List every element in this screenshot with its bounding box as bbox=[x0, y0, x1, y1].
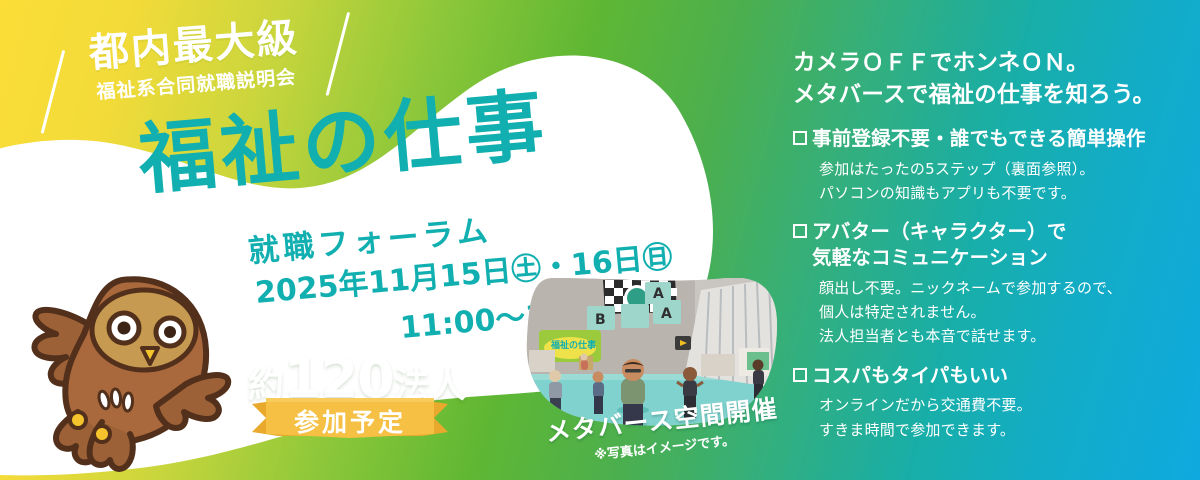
right-panel: カメラＯＦＦでホンネＯＮ。 メタバースで福祉の仕事を知ろう。 事前登録不要・誰で… bbox=[793, 48, 1185, 442]
avatar-mid bbox=[593, 372, 605, 415]
feature-1-head: 事前登録不要・誰でもできる簡単操作 bbox=[793, 126, 1185, 152]
feature-2-body: 顔出し不要。ニックネームで参加するので、 個人は特定されません。 法人担当者とも… bbox=[819, 276, 1185, 349]
checkbox-icon bbox=[793, 131, 807, 145]
feature-3-body-line-2: すきま時間で参加できます。 bbox=[819, 418, 1185, 442]
feature-1-body: 参加はたったの5ステップ（裏面参照）。 パソコンの知識もアプリも不要です。 bbox=[819, 157, 1185, 206]
feature-2-head-line-1: アバター（キャラクター）で bbox=[812, 219, 1067, 245]
feature-1-head-line-1: 事前登録不要・誰でもできる簡単操作 bbox=[812, 126, 1146, 152]
feature-block-1: 事前登録不要・誰でもできる簡単操作 参加はたったの5ステップ（裏面参照）。 パソ… bbox=[793, 126, 1185, 205]
feature-1-body-line-1: 参加はたったの5ステップ（裏面参照）。 bbox=[819, 157, 1185, 181]
feature-2-body-line-1: 顔出し不要。ニックネームで参加するので、 bbox=[819, 276, 1185, 300]
checkbox-icon bbox=[793, 368, 807, 382]
feature-3-head-line-1: コスパもタイパもいい bbox=[812, 363, 1008, 389]
feature-2-body-line-3: 法人担当者とも本音で話せます。 bbox=[819, 324, 1185, 348]
ribbon-label: 参加予定 bbox=[252, 403, 448, 439]
feature-2-head: アバター（キャラクター）で 気軽なコミュニケーション bbox=[793, 219, 1185, 270]
feature-2-head-line-2: 気軽なコミュニケーション bbox=[812, 245, 1067, 271]
feature-1-body-line-2: パソコンの知識もアプリも不要です。 bbox=[819, 181, 1185, 205]
svg-text:福祉の仕事: 福祉の仕事 bbox=[550, 339, 596, 351]
badge-headline: 都内最大級 bbox=[75, 17, 312, 75]
feature-2-body-line-2: 個人は特定されません。 bbox=[819, 300, 1185, 324]
avatar-small bbox=[581, 354, 589, 371]
booth-label-b: B bbox=[595, 312, 606, 328]
avatar-left bbox=[549, 370, 562, 418]
checkbox-icon bbox=[793, 224, 807, 238]
feature-block-3: コスパもタイパもいい オンラインだから交通費不要。 すきま時間で参加できます。 bbox=[793, 363, 1185, 442]
owl-mascot-icon bbox=[18, 262, 233, 477]
booth-label-a1: A bbox=[661, 306, 672, 322]
feature-block-2: アバター（キャラクター）で 気軽なコミュニケーション 顔出し不要。ニックネームで… bbox=[793, 219, 1185, 348]
booth-label-a2: A bbox=[653, 286, 664, 302]
lead-line-1: カメラＯＦＦでホンネＯＮ。 bbox=[793, 48, 1185, 80]
participation-ribbon: 参加予定 bbox=[252, 394, 448, 448]
feature-3-body: オンラインだから交通費不要。 すきま時間で参加できます。 bbox=[819, 393, 1185, 442]
feature-3-body-line-1: オンラインだから交通費不要。 bbox=[819, 393, 1185, 417]
feature-3-head: コスパもタイパもいい bbox=[793, 363, 1185, 389]
lead-line-2: メタバースで福祉の仕事を知ろう。 bbox=[793, 80, 1185, 112]
event-banner: 都内最大級 福祉系合同就職説明会 bbox=[0, 0, 1200, 480]
avatar-far-right bbox=[753, 360, 765, 401]
